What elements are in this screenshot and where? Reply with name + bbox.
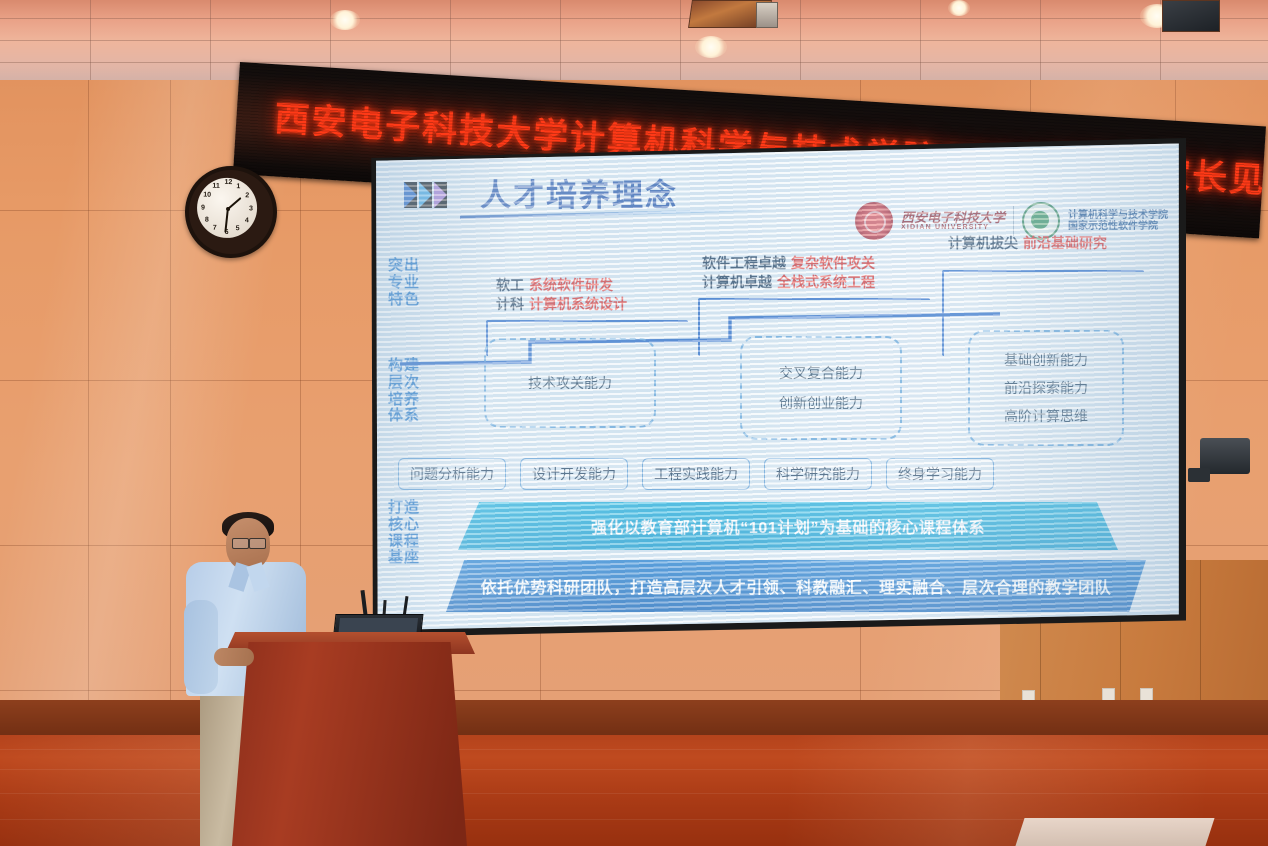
program-column-3: 计算机拔尖前沿基础研究 xyxy=(948,234,1107,253)
ceiling-downlight xyxy=(330,10,360,30)
presentation-slide: 人才培养理念 西安电子科技大学 XIDIAN UNIVERSITY 计算机科学与… xyxy=(372,142,1182,634)
eyeglasses-icon xyxy=(232,538,249,549)
capability-item: 技术攻关能力 xyxy=(528,373,612,393)
capability-item: 创新创业能力 xyxy=(779,393,863,413)
teaching-team-text: 依托优势科研团队，打造高层次人才引领、科教融汇、理实融合、层次合理的教学团队 xyxy=(481,574,1112,598)
capability-box-3: 基础创新能力 前沿探索能力 高阶计算思维 xyxy=(968,330,1124,446)
podium: XIDIAN UNIVERSITY xyxy=(232,642,467,846)
wall-bracket xyxy=(1188,468,1210,482)
program-row: 软工系统软件研发 xyxy=(496,276,627,295)
ceiling-downlight xyxy=(695,36,727,58)
lecture-hall-photo: 西安电子科技大学计算机科学与技术学院2025级新生家长见面会 12 1 2 3 … xyxy=(0,0,1268,846)
program-column-1: 软工系统软件研发 计科计算机系统设计 xyxy=(496,276,627,314)
school-name: 计算机科学与技术学院 国家示范性软件学院 xyxy=(1068,210,1168,233)
slide-title: 人才培养理念 xyxy=(480,170,678,215)
ability-pill: 科学研究能力 xyxy=(764,458,872,490)
projector-lens xyxy=(756,2,778,28)
ability-pill: 终身学习能力 xyxy=(886,458,994,490)
xidian-seal-icon xyxy=(855,202,893,240)
speaker-arm xyxy=(184,600,218,694)
core-curriculum-bar: 强化以教育部计算机“101计划”为基础的核心课程体系 xyxy=(458,502,1118,550)
core-curriculum-text: 强化以教育部计算机“101计划”为基础的核心课程体系 xyxy=(591,514,985,538)
program-row: 计科计算机系统设计 xyxy=(496,295,627,314)
capability-item: 基础创新能力 xyxy=(1004,350,1088,370)
university-name-cn: 西安电子科技大学 xyxy=(901,211,1005,225)
ceiling-downlight xyxy=(948,0,970,16)
sidebar-label-group-1: 突出专业特色 xyxy=(388,258,432,308)
university-name: 西安电子科技大学 XIDIAN UNIVERSITY xyxy=(901,211,1005,232)
school-name-line2: 国家示范性软件学院 xyxy=(1068,221,1168,233)
speaker-hand xyxy=(214,648,254,666)
capability-box-2: 交叉复合能力 创新创业能力 xyxy=(740,336,902,440)
title-chevrons xyxy=(404,182,447,208)
ability-pill-row: 问题分析能力 设计开发能力 工程实践能力 科学研究能力 终身学习能力 xyxy=(398,458,994,490)
teaching-team-bar: 依托优势科研团队，打造高层次人才引领、科教融汇、理实融合、层次合理的教学团队 xyxy=(446,560,1146,612)
eyeglasses-icon xyxy=(249,538,266,549)
ability-pill: 设计开发能力 xyxy=(520,458,628,490)
program-row: 计算机拔尖前沿基础研究 xyxy=(948,234,1107,253)
university-name-en: XIDIAN UNIVERSITY xyxy=(901,224,1005,231)
program-column-2: 软件工程卓越复杂软件攻关 计算机卓越全栈式系统工程 xyxy=(702,254,875,292)
capability-item: 前沿探索能力 xyxy=(1004,378,1088,398)
capability-item: 高阶计算思维 xyxy=(1004,406,1088,426)
chevron-icon xyxy=(404,182,417,208)
program-row: 计算机卓越全栈式系统工程 xyxy=(702,273,875,292)
school-name-line1: 计算机科学与技术学院 xyxy=(1068,210,1168,222)
projection-screen: 人才培养理念 西安电子科技大学 XIDIAN UNIVERSITY 计算机科学与… xyxy=(372,142,1182,634)
ceiling xyxy=(0,0,1268,86)
capability-item: 交叉复合能力 xyxy=(779,363,863,383)
stage-edge xyxy=(0,700,1268,740)
ability-pill: 工程实践能力 xyxy=(642,458,750,490)
chevron-icon xyxy=(434,182,447,208)
logo-divider xyxy=(1013,206,1014,236)
ceiling-vent xyxy=(1162,0,1220,32)
chevron-icon xyxy=(419,182,432,208)
floor-paper xyxy=(1015,818,1214,846)
ability-pill: 问题分析能力 xyxy=(398,458,506,490)
capability-box-1: 技术攻关能力 xyxy=(484,338,656,428)
program-row: 软件工程卓越复杂软件攻关 xyxy=(702,254,875,273)
sidebar-label-group-3: 打造核心课程基座 xyxy=(388,500,432,567)
